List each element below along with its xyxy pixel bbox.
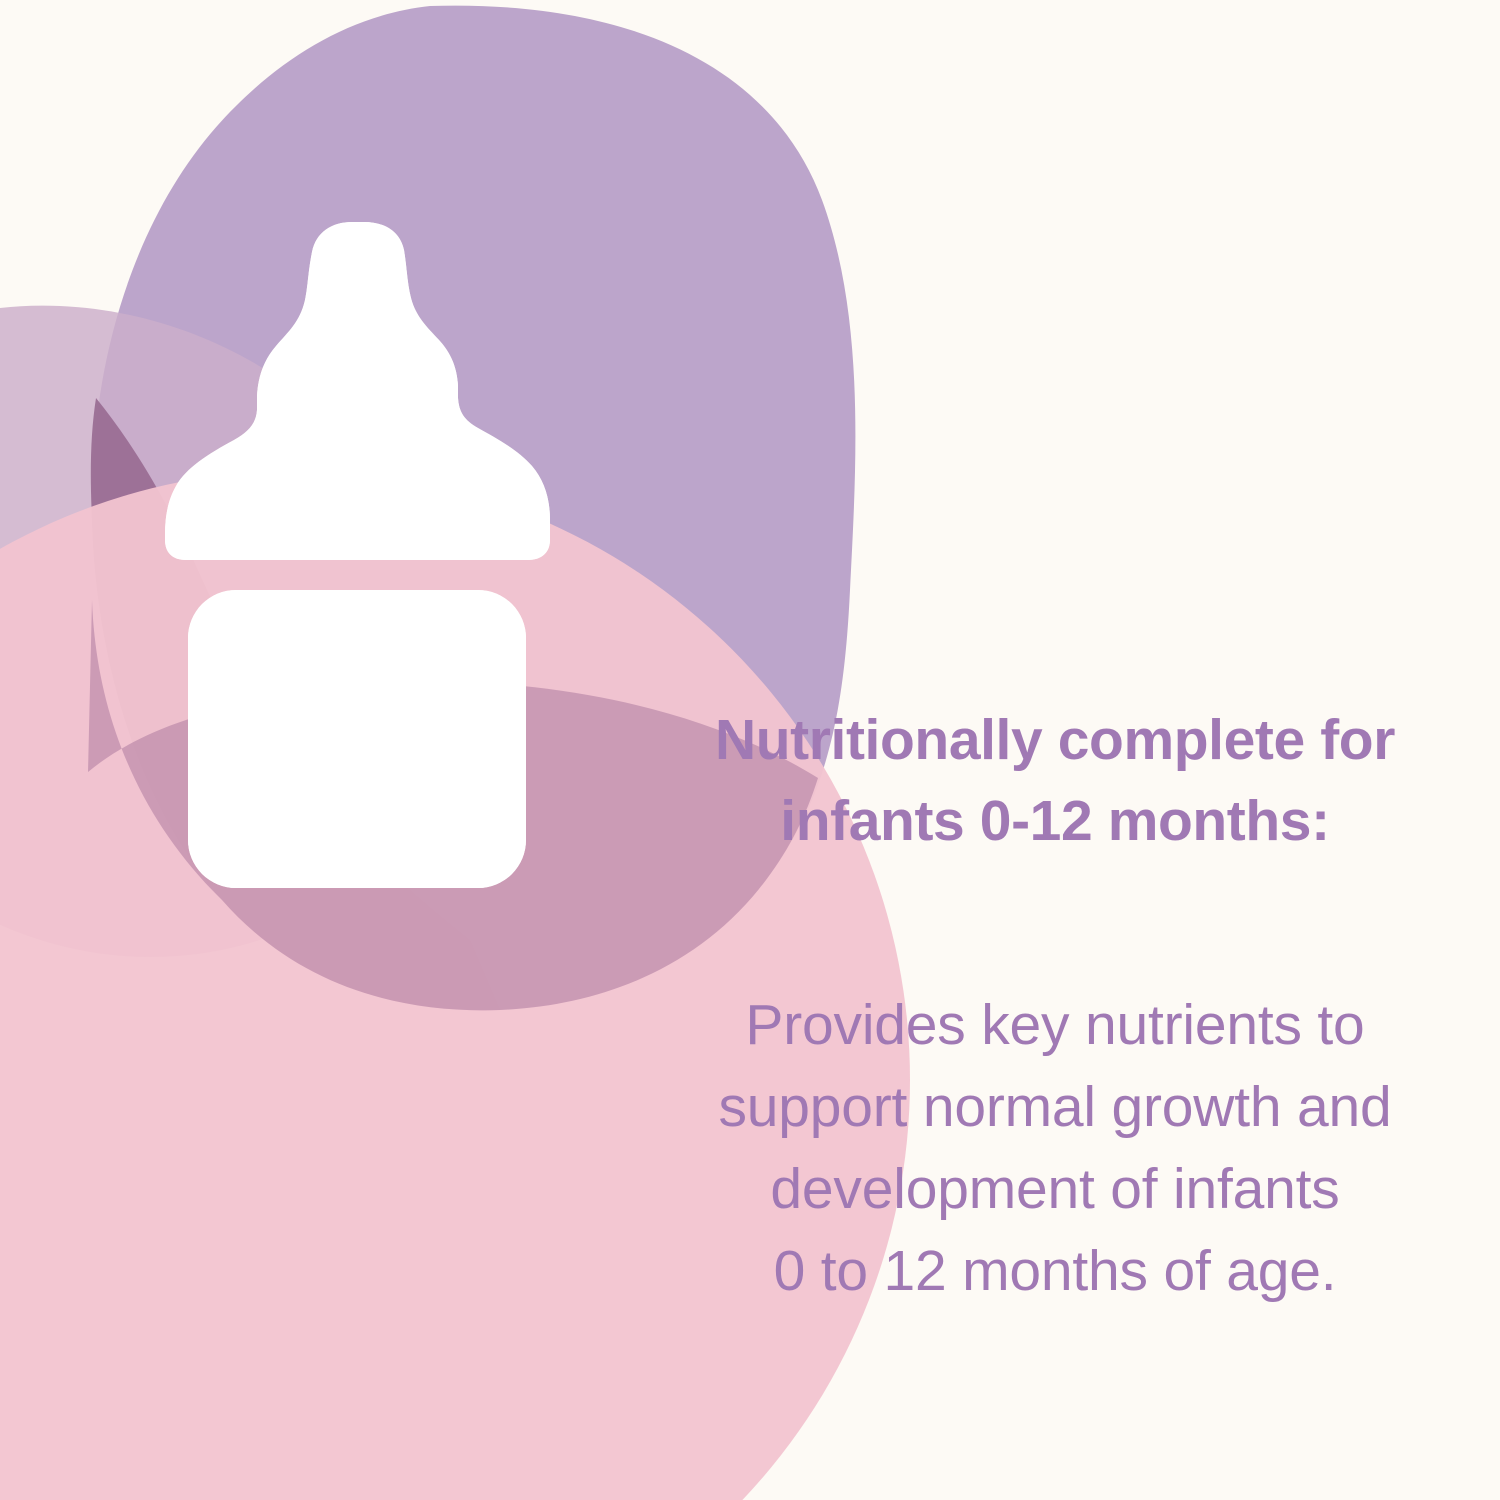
- copy-block: Nutritionally complete for infants 0-12 …: [640, 700, 1470, 1312]
- page-title: Nutritionally complete for infants 0-12 …: [640, 700, 1470, 862]
- promo-graphic: Nutritionally complete for infants 0-12 …: [0, 0, 1500, 1500]
- body-line-3: development of infants: [648, 1148, 1462, 1230]
- copy-spacer: [640, 862, 1470, 984]
- body-copy: Provides key nutrients to support normal…: [640, 984, 1470, 1312]
- body-line-4: 0 to 12 months of age.: [648, 1230, 1462, 1312]
- body-line-2: support normal growth and: [648, 1066, 1462, 1148]
- body-line-1: Provides key nutrients to: [648, 984, 1462, 1066]
- headline-line-1: Nutritionally complete for: [654, 700, 1456, 781]
- headline-line-2: infants 0-12 months:: [654, 781, 1456, 862]
